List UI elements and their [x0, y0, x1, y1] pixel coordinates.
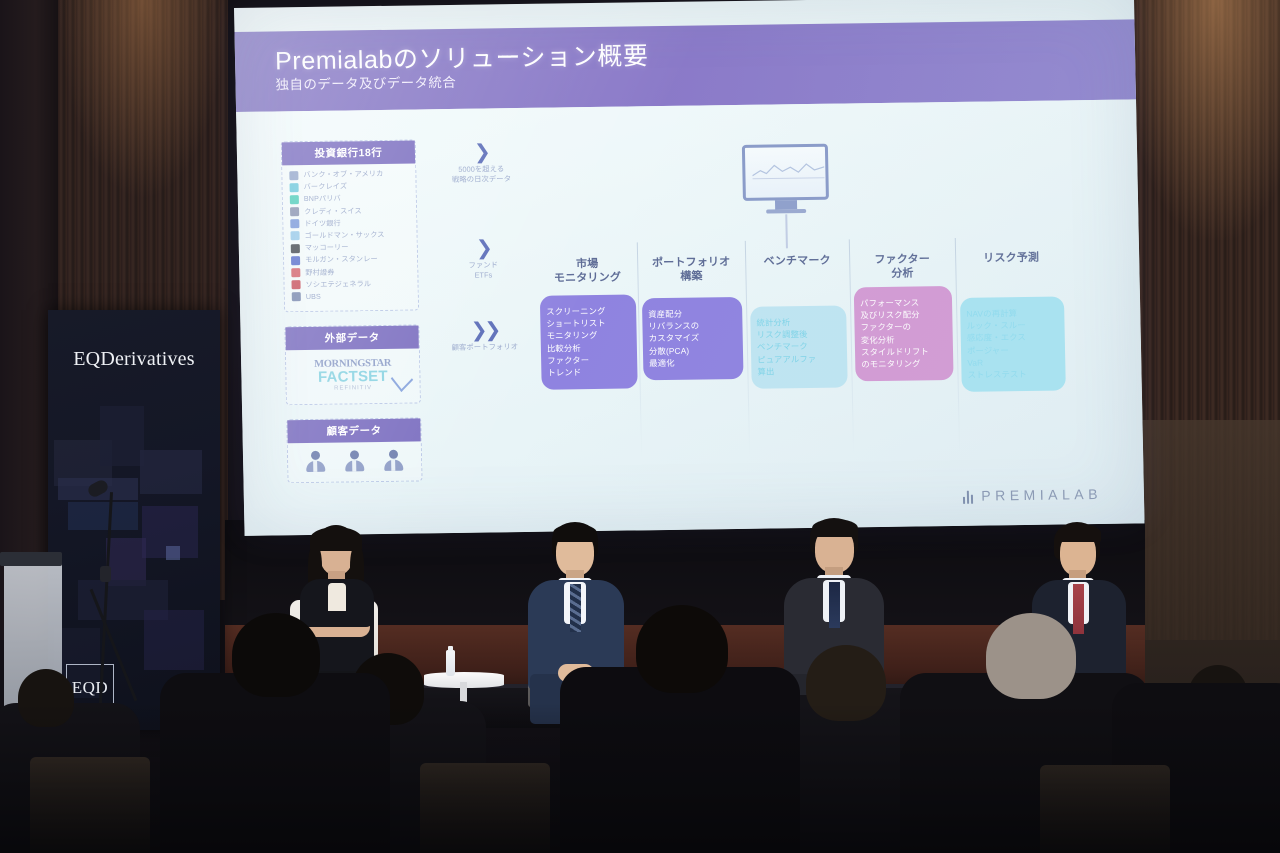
projection-screen: Premialabのソリューション概要 独自のデータ及びデータ統合 投資銀行18… [234, 0, 1145, 536]
bank-name: ソシエテジェネラル [305, 279, 371, 290]
audience-chair [420, 763, 550, 853]
capability-pillars: 市場モニタリングスクリーニングショートリストモニタリング比較分析ファクタートレン… [539, 250, 1124, 488]
pillar-2: ポートフォリオ構築資産配分リバランスのカスタマイズ分散(PCA)最適化 [641, 255, 743, 380]
pillar-card-item: ピュアアルファ [757, 352, 841, 365]
bank-row: 野村證券 [291, 266, 411, 278]
pillar-5: リスク予測NAVの再計算ルック・スルー感応度・エクスポージャーVaRストレステス… [959, 250, 1066, 392]
pillar-card-item: 比較分析 [547, 341, 631, 354]
bank-logo-icon [291, 256, 300, 265]
pillar-4: ファクター分析パフォーマンス及びリスク配分ファクターの変化分析スタイルドリフトの… [853, 252, 954, 381]
bank-logo-icon [292, 292, 301, 301]
customer-data-box: 顧客データ [286, 417, 422, 483]
pillar-title: リスク予測 [959, 250, 1064, 281]
bank-name: マッコーリー [305, 243, 349, 254]
pillar-title: 市場モニタリング [539, 256, 636, 287]
external-data-logos: MORNINGSTAR FACTSET REFINITIV [286, 349, 420, 397]
bank-name: モルガン・スタンレー [305, 254, 378, 265]
bank-logo-icon [291, 280, 300, 289]
bank-row: モルガン・スタンレー [291, 254, 411, 266]
pillar-3: ベンチマーク統計分析リスク調整後ベンチマークピュアアルファ算出 [749, 253, 848, 388]
pillar-card: 資産配分リバランスのカスタマイズ分散(PCA)最適化 [642, 297, 744, 380]
flow-arrow-item: ❯❯顧客ポートフォリオ [436, 320, 533, 353]
chevron-right-icon: ❯ [433, 142, 529, 163]
external-data-box: 外部データ MORNINGSTAR FACTSET REFINITIV [284, 324, 421, 405]
investment-banks-header: 投資銀行18行 [282, 140, 415, 165]
bank-name: 野村證券 [305, 267, 334, 277]
bank-row: バンク・オブ・アメリカ [289, 169, 409, 181]
pillar-card-item: 統計分析 [756, 316, 840, 329]
bank-row: ゴールドマン・サックス [290, 229, 410, 241]
flow-arrow-item: ❯ファンドETFs [435, 238, 532, 281]
desktop-monitor-chart-icon [742, 144, 829, 214]
pillar-card-item: ファクター [547, 353, 631, 366]
conference-room-scene: Premialabのソリューション概要 独自のデータ及びデータ統合 投資銀行18… [0, 0, 1280, 853]
pillar-title: ベンチマーク [749, 253, 846, 284]
bank-name: バークレイズ [304, 182, 348, 193]
bank-name: バンク・オブ・アメリカ [303, 169, 383, 180]
chevron-double-right-icon: ❯❯ [436, 320, 532, 341]
bank-logo-icon [289, 171, 298, 180]
pillar-card-item: ストレステスト [967, 367, 1059, 380]
bank-logo-icon [290, 195, 299, 204]
premialab-wordmark: PREMIALAB [981, 486, 1102, 504]
investment-banks-box: 投資銀行18行 バンク・オブ・アメリカバークレイズBNPパリバクレディ・スイスド… [281, 139, 419, 312]
person-icon [383, 450, 403, 471]
microphone-joint [100, 566, 111, 582]
bank-logo-icon [291, 268, 300, 277]
bank-row: ソシエテジェネラル [291, 278, 411, 290]
bank-logo-icon [290, 207, 299, 216]
customer-person-icons [288, 441, 422, 474]
pillar-card: パフォーマンス及びリスク配分ファクターの変化分析スタイルドリフトのモニタリング [854, 286, 954, 381]
premialab-logo: PREMIALAB [963, 486, 1102, 504]
flow-arrow-label: 5000を超える戦略の日次データ [433, 164, 529, 185]
lectern-top [0, 552, 62, 566]
external-data-header: 外部データ [285, 326, 418, 351]
pillar-title: ポートフォリオ構築 [641, 255, 742, 286]
flow-arrow-label: 顧客ポートフォリオ [437, 342, 533, 353]
bank-row: マッコーリー [291, 242, 411, 254]
pillar-title: ファクター分析 [853, 252, 952, 283]
premialab-bars-icon [963, 488, 974, 503]
bank-name: ドイツ銀行 [304, 218, 341, 229]
flow-arrows-column: ❯5000を超える戦略の日次データ❯ファンドETFs❯❯顧客ポートフォリオ [433, 142, 529, 143]
bank-list: バンク・オブ・アメリカバークレイズBNPパリバクレディ・スイスドイツ銀行ゴールド… [282, 163, 418, 301]
pillar-card-item: のモニタリング [861, 357, 947, 370]
bank-logo-icon [291, 232, 300, 241]
pillar-card: NAVの再計算ルック・スルー感応度・エクスポージャーVaRストレステスト [960, 296, 1066, 392]
slide-title: Premialabのソリューション概要 [275, 36, 649, 77]
audience-chair [30, 757, 150, 853]
flow-arrow-item: ❯5000を超える戦略の日次データ [433, 142, 530, 185]
bank-logo-icon [290, 219, 299, 228]
bank-logo-icon [291, 244, 300, 253]
pillar-card-item: 算出 [757, 364, 841, 377]
pillar-card-item: モニタリング [547, 329, 631, 342]
bank-name: クレディ・スイス [304, 206, 362, 217]
bank-row: バークレイズ [290, 181, 410, 193]
pillar-card-item: トレンド [547, 365, 631, 378]
person-icon [344, 450, 364, 471]
bank-name: UBS [306, 292, 321, 301]
slide-subtitle: 独自のデータ及びデータ統合 [275, 71, 456, 94]
slide-body: 投資銀行18行 バンク・オブ・アメリカバークレイズBNPパリバクレディ・スイスド… [236, 99, 1144, 535]
bank-row: クレディ・スイス [290, 205, 410, 217]
curtain-left-light [58, 0, 228, 200]
pillar-card: 統計分析リスク調整後ベンチマークピュアアルファ算出 [750, 305, 848, 388]
chevron-right-icon: ❯ [435, 238, 531, 259]
curtain-right-light [1120, 0, 1280, 240]
bank-name: ゴールドマン・サックス [304, 230, 384, 241]
pillar-1: 市場モニタリングスクリーニングショートリストモニタリング比較分析ファクタートレン… [539, 256, 638, 389]
person-icon [305, 451, 325, 472]
pillar-card-item: 最適化 [649, 356, 737, 369]
banner-title: EQDerivatives [48, 348, 220, 371]
bank-name: BNPパリバ [304, 194, 341, 205]
bank-row: BNPパリバ [290, 193, 410, 205]
pillar-card: スクリーニングショートリストモニタリング比較分析ファクタートレンド [540, 294, 638, 389]
bank-row: UBS [292, 290, 412, 301]
bank-row: ドイツ銀行 [290, 217, 410, 229]
data-sources-column: 投資銀行18行 バンク・オブ・アメリカバークレイズBNPパリバクレディ・スイスド… [281, 139, 423, 497]
flow-arrow-label: ファンドETFs [435, 260, 531, 281]
bank-logo-icon [290, 183, 299, 192]
audience-chair [1040, 765, 1170, 853]
customer-data-header: 顧客データ [287, 418, 420, 443]
